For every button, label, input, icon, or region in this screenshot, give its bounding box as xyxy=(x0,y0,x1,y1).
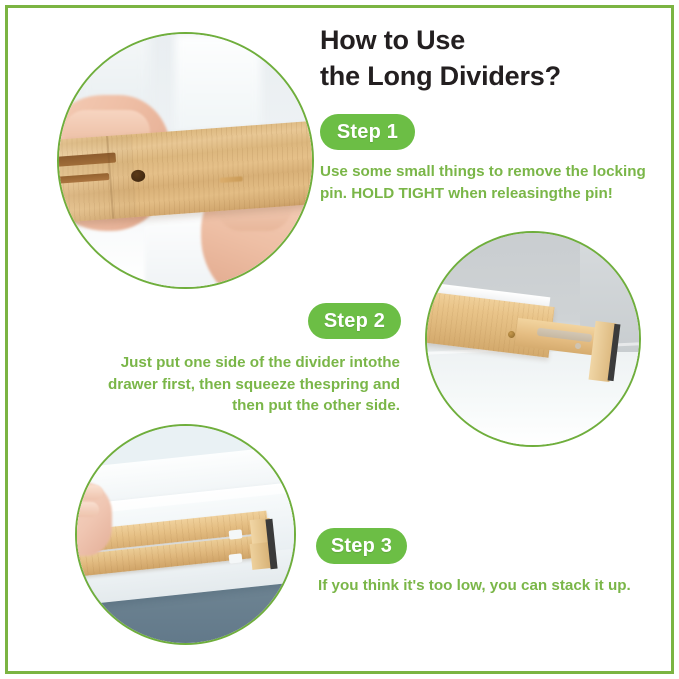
step-2-photo xyxy=(425,231,641,447)
infographic-page: How to Use the Long Dividers? xyxy=(0,0,679,679)
step-1-description: Use some small things to remove the lock… xyxy=(320,161,662,204)
photo-2-locking-pin xyxy=(507,330,515,338)
page-title-line-1: How to Use xyxy=(320,22,660,58)
step-1-badge[interactable]: Step 1 xyxy=(320,114,415,150)
step-2-badge-label: Step 2 xyxy=(324,310,385,333)
photo-1-scene xyxy=(59,34,312,287)
step-3-badge-label: Step 3 xyxy=(331,535,392,558)
page-title: How to Use the Long Dividers? xyxy=(320,22,660,94)
step-1-photo xyxy=(57,32,314,289)
step-3-description: If you think it's too low, you can stack… xyxy=(318,575,638,597)
step-2-description: Just put one side of the divider intothe… xyxy=(92,352,400,417)
step-3-photo xyxy=(75,424,296,645)
step-2-badge[interactable]: Step 2 xyxy=(308,303,401,339)
photo-3-clip-lower xyxy=(228,553,242,563)
photo-3-clip-upper xyxy=(228,529,242,539)
photo-3-scene xyxy=(77,426,294,643)
photo-3-finger-lower xyxy=(75,502,99,517)
photo-3-finger-upper xyxy=(75,485,103,500)
step-1-badge-label: Step 1 xyxy=(337,121,398,144)
photo-2-scene xyxy=(427,233,639,445)
page-title-line-2: the Long Dividers? xyxy=(320,58,660,94)
step-3-badge[interactable]: Step 3 xyxy=(316,528,407,564)
